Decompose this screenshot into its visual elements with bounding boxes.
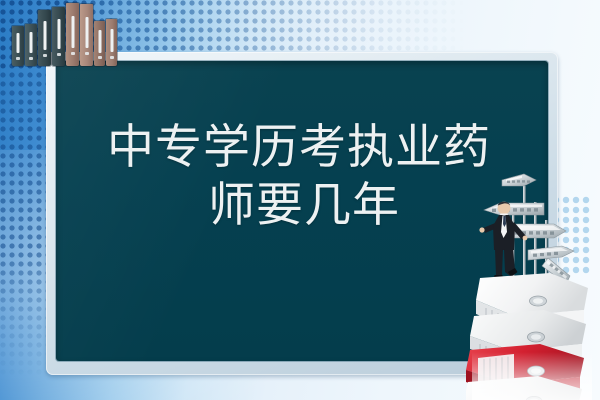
binder-4 — [52, 7, 65, 66]
binder-5 — [66, 3, 79, 66]
binder-6 — [80, 4, 93, 66]
binder-stack — [466, 273, 588, 400]
slide-canvas: 中专学历考执业药 师要几年 — [0, 0, 600, 400]
direction-sign-left — [484, 203, 544, 215]
binder-3 — [38, 10, 51, 66]
direction-sign-top-left — [502, 174, 536, 186]
office-binders-row — [12, 0, 112, 66]
businessman-on-binder-stack-illustration — [466, 158, 600, 400]
binder-8 — [106, 19, 117, 66]
binder-1 — [12, 26, 24, 66]
binder-2 — [25, 24, 37, 66]
binder-7 — [94, 21, 105, 66]
